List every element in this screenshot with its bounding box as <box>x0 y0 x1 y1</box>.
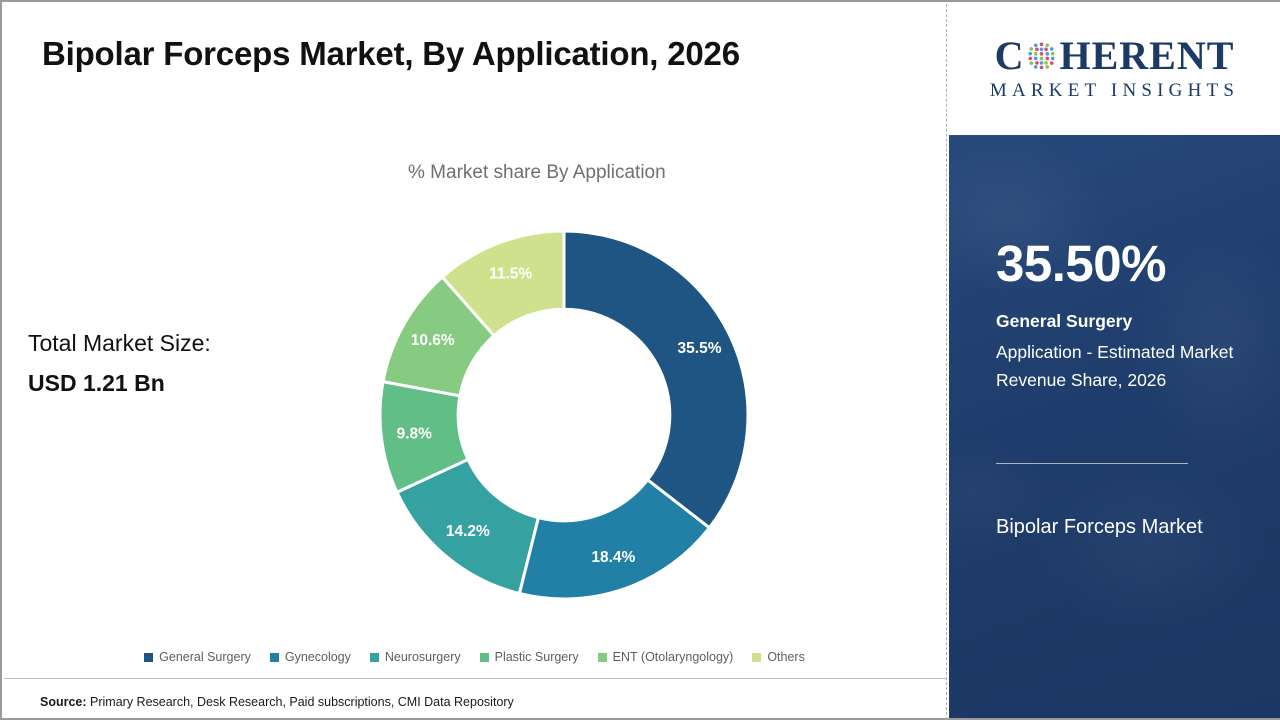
world-map-texture <box>949 135 1280 718</box>
legend-label: Others <box>767 650 805 664</box>
legend-swatch-icon <box>270 653 279 662</box>
infographic-page: Bipolar Forceps Market, By Application, … <box>0 0 1280 720</box>
donut-slice-label: 10.6% <box>411 332 455 349</box>
source-label: Source: <box>40 695 87 709</box>
legend-label: Plastic Surgery <box>495 650 579 664</box>
legend-label: Gynecology <box>285 650 351 664</box>
donut-chart: 35.5%18.4%14.2%9.8%10.6%11.5% <box>372 223 756 607</box>
brand-logo-wordmark: C <box>995 36 1235 76</box>
legend-swatch-icon <box>752 653 761 662</box>
market-name: Bipolar Forceps Market <box>996 505 1226 549</box>
legend-label: ENT (Otolaryngology) <box>613 650 734 664</box>
chart-subtitle: % Market share By Application <box>408 162 666 184</box>
stat-panel: 35.50% General Surgery Application - Est… <box>949 135 1280 718</box>
legend-swatch-icon <box>144 653 153 662</box>
legend-item[interactable]: ENT (Otolaryngology) <box>598 650 734 664</box>
legend-item[interactable]: Gynecology <box>270 650 351 664</box>
legend-swatch-icon <box>480 653 489 662</box>
chart-panel: Bipolar Forceps Market, By Application, … <box>2 2 947 718</box>
donut-slice-label: 18.4% <box>591 549 635 566</box>
donut-slice-label: 35.5% <box>678 340 722 357</box>
legend-item[interactable]: Others <box>752 650 805 664</box>
globe-dots-icon <box>1025 39 1058 72</box>
legend-label: General Surgery <box>159 650 251 664</box>
brand-panel: C <box>949 2 1280 718</box>
stat-category-name: General Surgery <box>996 311 1132 332</box>
legend-label: Neurosurgery <box>385 650 461 664</box>
source-text: Primary Research, Desk Research, Paid su… <box>87 695 514 709</box>
total-market-size-value: USD 1.21 Bn <box>28 364 211 404</box>
legend-swatch-icon <box>598 653 607 662</box>
total-market-size: Total Market Size: USD 1.21 Bn <box>28 324 211 403</box>
legend-item[interactable]: General Surgery <box>144 650 251 664</box>
chart-legend: General SurgeryGynecologyNeurosurgeryPla… <box>2 650 947 664</box>
stat-description: Application - Estimated Market Revenue S… <box>996 338 1236 395</box>
donut-slices <box>380 231 748 599</box>
brand-tagline: MARKET INSIGHTS <box>990 80 1239 102</box>
legend-item[interactable]: Neurosurgery <box>370 650 461 664</box>
page-title: Bipolar Forceps Market, By Application, … <box>42 35 740 73</box>
donut-slice-label: 14.2% <box>446 523 490 540</box>
legend-swatch-icon <box>370 653 379 662</box>
footer-divider <box>4 678 947 679</box>
vertical-dashed-divider <box>946 4 947 720</box>
donut-slice-label: 9.8% <box>397 425 433 442</box>
legend-item[interactable]: Plastic Surgery <box>480 650 579 664</box>
donut-slice <box>564 231 748 528</box>
source-note: Source: Primary Research, Desk Research,… <box>40 695 514 709</box>
donut-chart-svg: 35.5%18.4%14.2%9.8%10.6%11.5% <box>372 223 756 607</box>
stat-value: 35.50% <box>996 238 1166 289</box>
total-market-size-label: Total Market Size: <box>28 324 211 364</box>
brand-logo: C <box>949 2 1280 135</box>
brand-logo-letter-c: C <box>995 36 1025 76</box>
brand-logo-letters-herent: HERENT <box>1059 36 1234 76</box>
donut-slice-label: 11.5% <box>489 265 532 282</box>
stat-panel-divider <box>996 463 1188 464</box>
